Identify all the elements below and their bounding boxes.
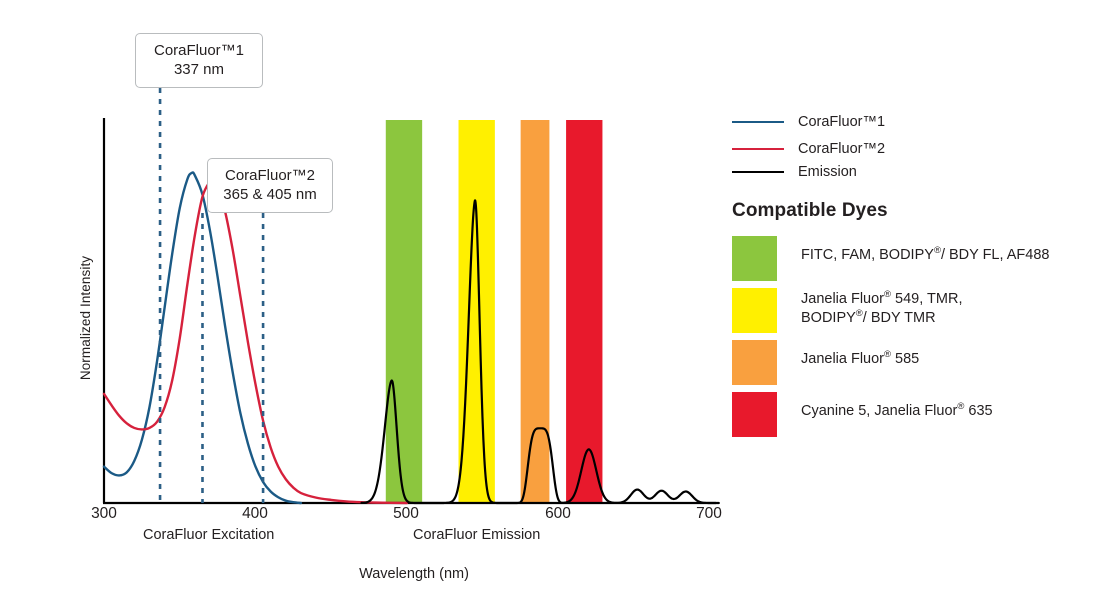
dye-label-orange: Janelia Fluor® 585	[801, 340, 919, 369]
y-axis-label: Normalized Intensity	[78, 218, 93, 418]
x-tick-500: 500	[371, 505, 441, 523]
band-green	[386, 120, 422, 503]
plot-area: Normalized Intensity 300 400 500 600 700…	[0, 0, 740, 612]
compatible-dyes-title: Compatible Dyes	[732, 200, 888, 222]
chart-canvas: Normalized Intensity 300 400 500 600 700…	[0, 0, 1110, 612]
callout-corafluor2-line2: 365 & 405 nm	[218, 185, 322, 204]
x-tick-400: 400	[220, 505, 290, 523]
excitation-region-label: CoraFluor Excitation	[143, 527, 274, 543]
dye-label-yellow-line2: BODIPY®/ BDY TMR	[801, 309, 962, 328]
dye-item-orange: Janelia Fluor® 585	[732, 340, 919, 385]
x-tick-300: 300	[69, 505, 139, 523]
emission-region-label: CoraFluor Emission	[413, 527, 540, 543]
legend-swatch-line-emission	[732, 171, 784, 173]
dye-swatch-red	[732, 392, 777, 437]
dye-label-red: Cyanine 5, Janelia Fluor® 635	[801, 392, 993, 421]
legend-item-corafluor2: CoraFluor™2	[732, 139, 885, 159]
x-axis-label: Wavelength (nm)	[294, 566, 534, 582]
band-yellow	[459, 120, 495, 503]
band-orange	[521, 120, 550, 503]
legend-item-corafluor1: CoraFluor™1	[732, 112, 885, 132]
dye-swatch-orange	[732, 340, 777, 385]
dye-item-yellow: Janelia Fluor® 549, TMR, BODIPY®/ BDY TM…	[732, 288, 962, 333]
callout-corafluor1: CoraFluor™1 337 nm	[135, 33, 263, 88]
dye-label-yellow-line1: Janelia Fluor® 549, TMR,	[801, 290, 962, 309]
legend-label-corafluor2: CoraFluor™2	[798, 139, 885, 159]
dye-label-green: FITC, FAM, BODIPY®/ BDY FL, AF488	[801, 236, 1049, 265]
legend-label-emission: Emission	[798, 162, 857, 182]
legend-swatch-line-corafluor2	[732, 148, 784, 150]
dye-label-yellow: Janelia Fluor® 549, TMR, BODIPY®/ BDY TM…	[801, 288, 962, 328]
callout-corafluor1-line1: CoraFluor™1	[154, 42, 244, 59]
x-tick-600: 600	[523, 505, 593, 523]
curve-corafluor2	[104, 179, 407, 503]
callout-corafluor2: CoraFluor™2 365 & 405 nm	[207, 158, 333, 213]
dye-item-green: FITC, FAM, BODIPY®/ BDY FL, AF488	[732, 236, 1049, 281]
legend-swatch-line-corafluor1	[732, 121, 784, 123]
legend-panel: CoraFluor™1 CoraFluor™2 Emission Compati…	[730, 0, 1110, 612]
dye-swatch-yellow	[732, 288, 777, 333]
callout-corafluor2-line1: CoraFluor™2	[225, 167, 315, 184]
legend-item-emission: Emission	[732, 162, 857, 182]
callout-corafluor1-line2: 337 nm	[146, 60, 252, 79]
legend-label-corafluor1: CoraFluor™1	[798, 112, 885, 132]
dye-item-red: Cyanine 5, Janelia Fluor® 635	[732, 392, 993, 437]
dye-swatch-green	[732, 236, 777, 281]
band-red	[566, 120, 602, 503]
